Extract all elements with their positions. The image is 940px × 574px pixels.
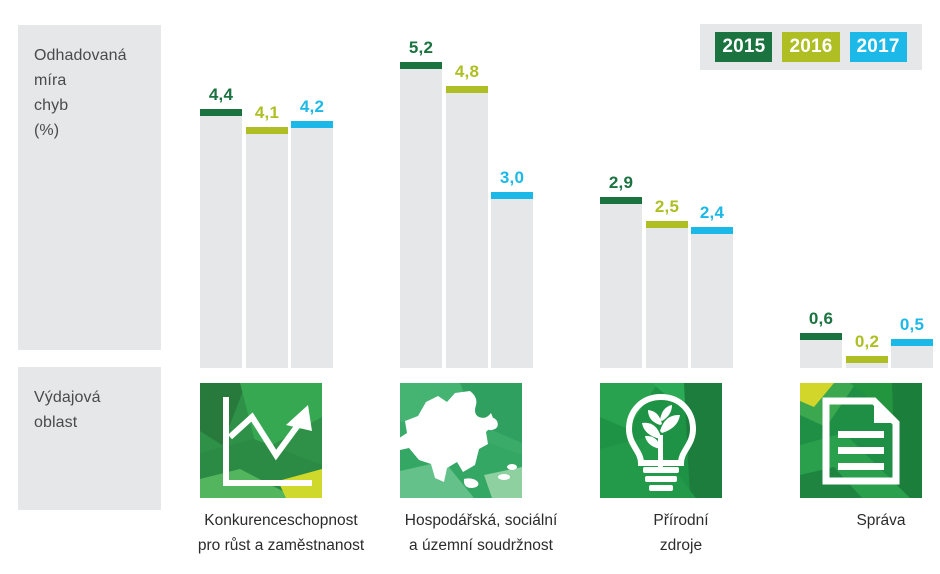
bar-group-columns: 4,44,14,2 [181,0,381,368]
bar-cap-2015 [200,109,242,116]
bar-body [646,228,688,368]
bar-group-columns: 5,24,83,0 [381,0,581,368]
bar-2015-1[interactable]: 4,4 [200,109,242,368]
bar-group-columns: 0,60,20,5 [781,0,940,368]
category-caption-1: Konkurenceschopnostpro růst a zaměstnano… [171,508,391,558]
bar-2015-3[interactable]: 2,9 [600,197,642,368]
caption-line: Hospodářská, sociální [371,508,591,533]
caption-line: zdroje [571,533,791,558]
bar-body [846,363,888,368]
bar-cap-2017 [691,227,733,234]
bar-cap-2017 [891,339,933,346]
bar-group-1: 4,44,14,2 Konkurenceschopnostpro růst a … [181,0,381,574]
bar-value-label: 4,4 [192,86,250,103]
bar-cap-2015 [400,62,442,69]
bar-2015-2[interactable]: 5,2 [400,62,442,368]
category-caption-4: Správa [771,508,940,533]
bar-2016-4[interactable]: 0,2 [846,356,888,368]
bar-group-columns: 2,92,52,4 [581,0,781,368]
category-caption-3: Přírodnízdroje [571,508,791,558]
bar-2016-2[interactable]: 4,8 [446,86,488,368]
bar-body [291,128,333,368]
bar-group-3: 2,92,52,4 Přírodnízdroje [581,0,781,574]
bar-body [800,340,842,368]
bar-2017-2[interactable]: 3,0 [491,192,533,368]
bar-group-2: 5,24,83,0 Hospodářská, sociálnía územní … [381,0,581,574]
caption-line: pro růst a zaměstnanost [171,533,391,558]
bar-cap-2016 [846,356,888,363]
bar-2015-4[interactable]: 0,6 [800,333,842,368]
caption-line: Správa [771,508,940,533]
caption-line: a územní soudržnost [371,533,591,558]
bar-value-label: 2,4 [683,204,741,221]
caption-line: Přírodní [571,508,791,533]
bar-value-label: 3,0 [483,169,541,186]
bar-body [691,234,733,368]
bar-2017-1[interactable]: 4,2 [291,121,333,368]
bar-body [491,199,533,368]
bar-group-4: 0,60,20,5 Správa [781,0,940,574]
europe-map-icon [400,383,522,498]
bar-value-label: 5,2 [392,39,450,56]
bar-body [891,346,933,368]
lightbulb-plant-icon [600,383,722,498]
bar-cap-2015 [600,197,642,204]
bar-cap-2016 [246,127,288,134]
bar-body [600,204,642,368]
bar-body [400,69,442,368]
bar-value-label: 0,2 [838,333,896,350]
bar-chart-plot: 4,44,14,2 Konkurenceschopnostpro růst a … [0,0,940,574]
bar-body [446,93,488,368]
caption-line: Konkurenceschopnost [171,508,391,533]
bar-cap-2016 [446,86,488,93]
bar-value-label: 2,9 [592,174,650,191]
bar-2016-1[interactable]: 4,1 [246,127,288,368]
bar-value-label: 0,6 [792,310,850,327]
bar-value-label: 4,2 [283,98,341,115]
bar-body [200,116,242,368]
bar-cap-2015 [800,333,842,340]
bar-value-label: 0,5 [883,316,940,333]
bar-body [246,134,288,368]
bar-value-label: 4,8 [438,63,496,80]
growth-chart-icon [200,383,322,498]
bar-2016-3[interactable]: 2,5 [646,221,688,368]
bar-2017-4[interactable]: 0,5 [891,339,933,368]
bar-cap-2017 [491,192,533,199]
bar-cap-2016 [646,221,688,228]
bar-2017-3[interactable]: 2,4 [691,227,733,368]
document-icon [800,383,922,498]
bar-cap-2017 [291,121,333,128]
category-caption-2: Hospodářská, sociálnía územní soudržnost [371,508,591,558]
